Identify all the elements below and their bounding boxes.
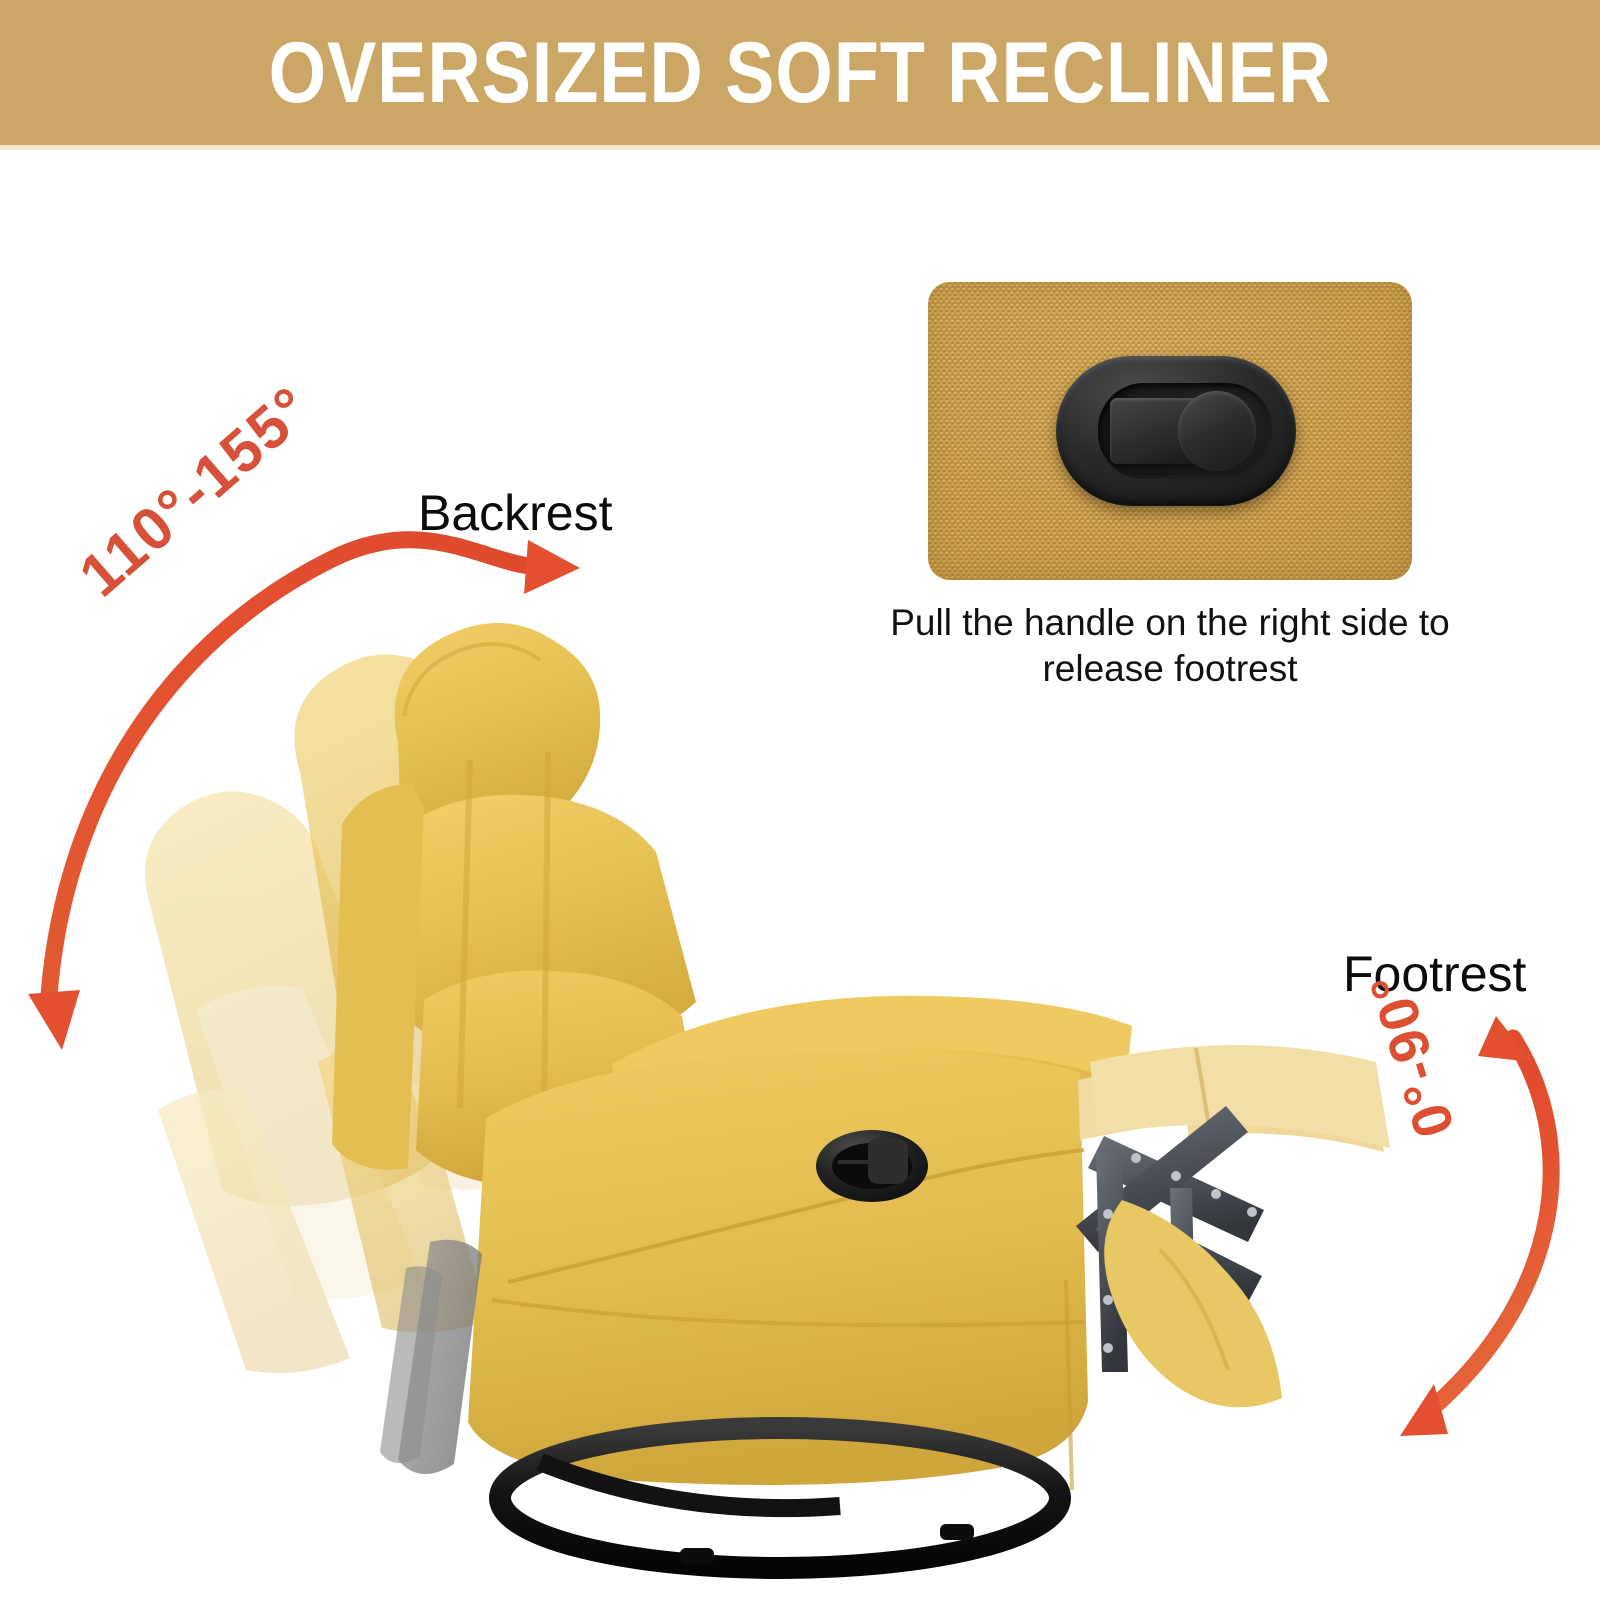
recliner-chair-photo: [0, 0, 1600, 1600]
inset-caption: Pull the handle on the right side to rel…: [890, 600, 1450, 692]
handle-recess: [1098, 383, 1272, 479]
handle-pull-tab: [1110, 398, 1248, 464]
backrest-label: Backrest: [418, 484, 613, 542]
handle-detail-photo: [928, 282, 1412, 580]
handle-bezel: [1056, 356, 1296, 506]
side-release-handle: [816, 1130, 928, 1202]
